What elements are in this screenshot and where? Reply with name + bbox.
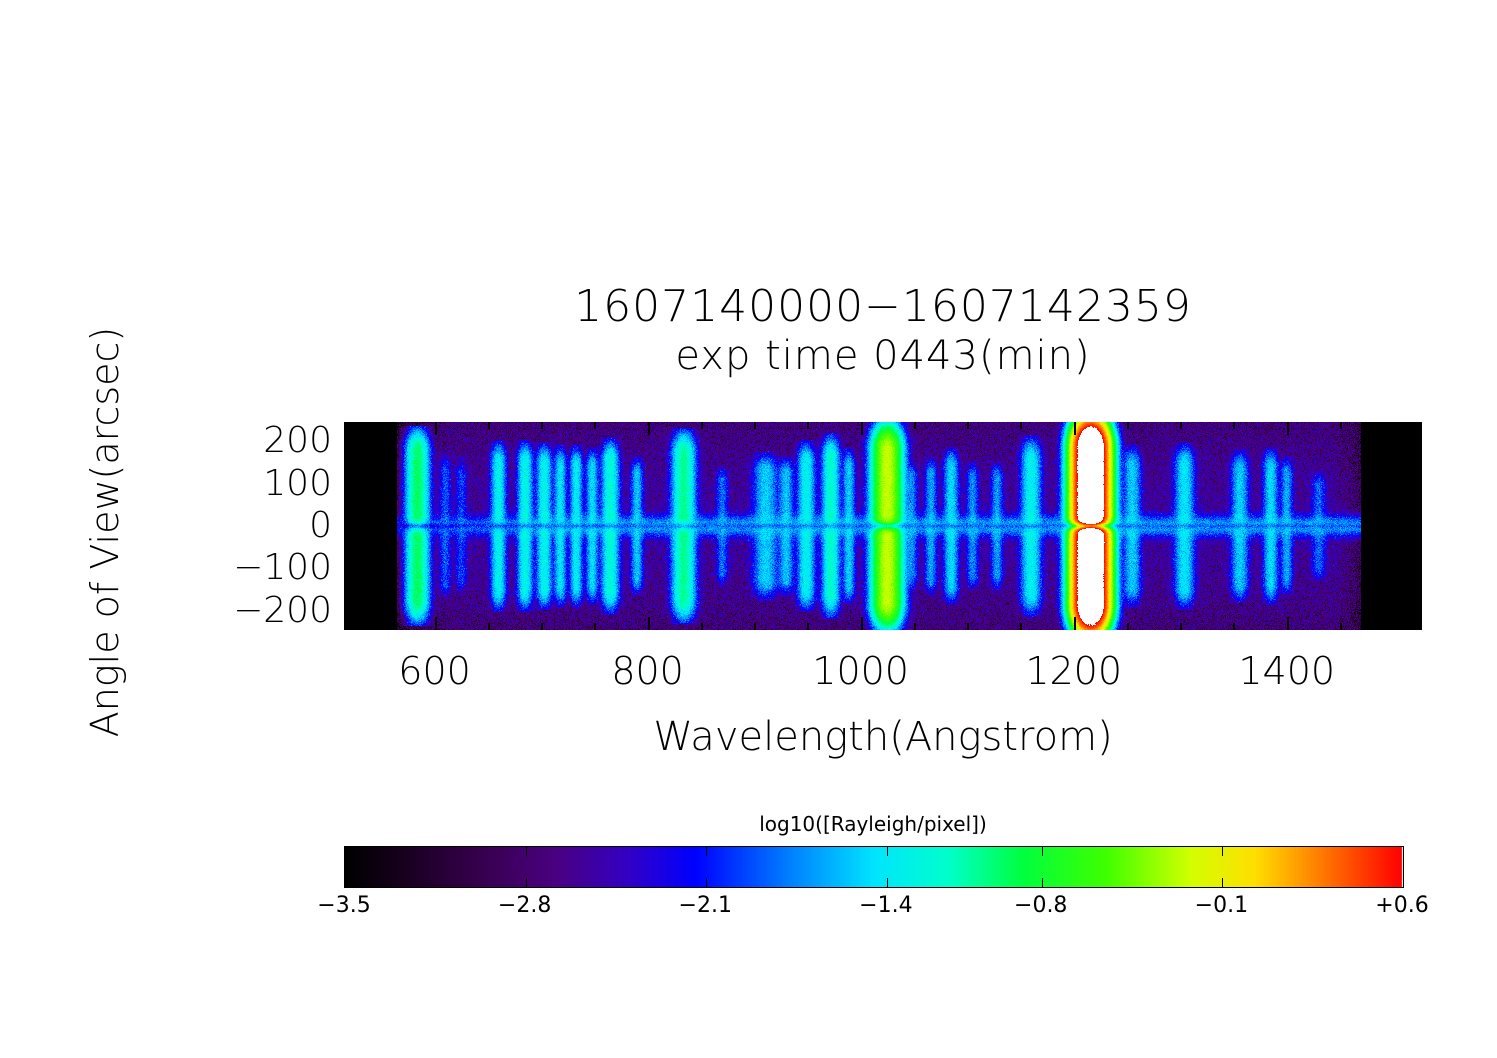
- colorbar-tick-label: +0.6: [1375, 894, 1428, 918]
- y-axis-tick-label: 0: [309, 508, 332, 544]
- colorbar-tick-mark: [526, 878, 527, 887]
- colorbar-tick-label: −2.8: [498, 894, 551, 918]
- spectrogram-image: [344, 422, 1422, 630]
- x-axis-tick-label: 800: [568, 652, 728, 690]
- y-axis-tick-labels: 2001000−100−200: [186, 410, 332, 650]
- colorbar-tick-mark: [1042, 878, 1043, 887]
- colorbar-tick-mark: [1042, 847, 1043, 856]
- colorbar-tick-label: −3.5: [317, 894, 370, 918]
- colorbar-tick-label: −0.8: [1014, 894, 1067, 918]
- y-axis-tick-label: −200: [233, 593, 332, 629]
- colorbar-tick-mark: [706, 847, 707, 856]
- colorbar-gradient-box: [344, 846, 1404, 888]
- colorbar-tick-label: −2.1: [679, 894, 732, 918]
- colorbar-tick-mark: [706, 878, 707, 887]
- colorbar-tick-mark: [887, 847, 888, 856]
- colorbar-tick-mark: [1222, 847, 1223, 856]
- colorbar-tick-mark: [526, 847, 527, 856]
- colorbar-gradient: [345, 847, 1403, 887]
- colorbar: log10([Rayleigh/pixel]) −3.5−2.8−2.1−1.4…: [344, 812, 1402, 928]
- spectrogram-plot-area: [344, 422, 1422, 630]
- y-axis-tick-label: 100: [263, 466, 332, 502]
- title-line-exposure-time: exp time 0443(min): [344, 332, 1422, 380]
- y-axis-title: Angle of View(arcsec): [83, 272, 127, 792]
- x-axis-title: Wavelength(Angstrom): [344, 714, 1422, 760]
- title-line-observation-range: 1607140000−1607142359: [344, 282, 1422, 332]
- x-axis-tick-label: 1400: [1207, 652, 1367, 690]
- y-axis-tick-label: −100: [233, 550, 332, 586]
- colorbar-title: log10([Rayleigh/pixel]): [344, 812, 1402, 836]
- x-axis-tick-labels: 600800100012001400: [344, 652, 1422, 700]
- y-axis-tick-label: 200: [263, 423, 332, 459]
- colorbar-tick-mark: [887, 878, 888, 887]
- colorbar-tick-label: −0.1: [1195, 894, 1248, 918]
- figure-root: 1607140000−1607142359 exp time 0443(min)…: [0, 0, 1497, 1058]
- plot-title: 1607140000−1607142359 exp time 0443(min): [344, 282, 1422, 380]
- x-axis-tick-label: 1200: [994, 652, 1154, 690]
- colorbar-tick-label: −1.4: [859, 894, 912, 918]
- x-axis-tick-label: 1000: [781, 652, 941, 690]
- colorbar-tick-mark: [1222, 878, 1223, 887]
- x-axis-tick-label: 600: [355, 652, 515, 690]
- colorbar-tick-labels: −3.5−2.8−2.1−1.4−0.8−0.1+0.6: [344, 894, 1402, 928]
